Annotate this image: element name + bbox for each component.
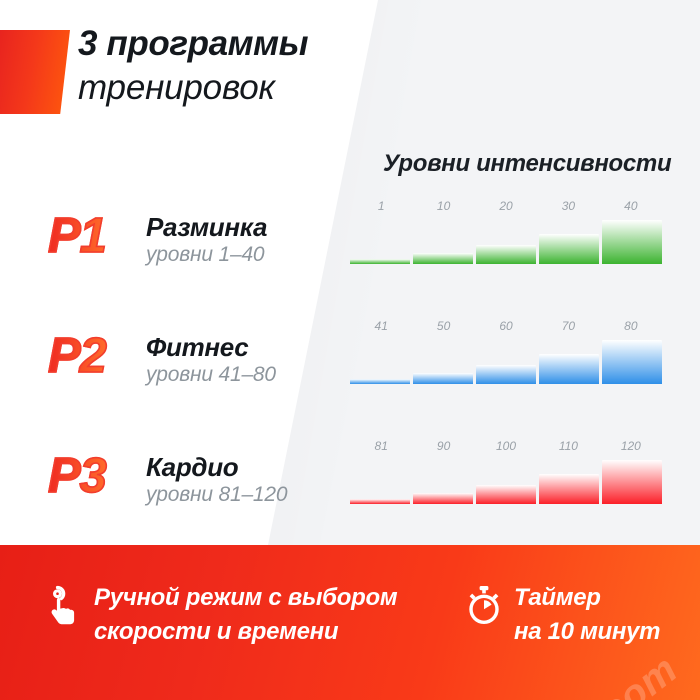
bar-group-2: 4150607080: [350, 318, 662, 406]
bar-row: [350, 334, 662, 384]
bar: [413, 253, 473, 264]
feature-line-1: Ручной режим с выбором: [94, 581, 397, 615]
title-line-1: 3 программы: [78, 22, 378, 66]
bar-row: [350, 454, 662, 504]
bar: [602, 340, 662, 384]
bar-group-1: 110203040: [350, 198, 662, 286]
bar-group-3: 8190100110120: [350, 438, 662, 526]
program-code: P1: [48, 208, 106, 264]
watermark-sub: СОЗДАЙ СВОЮ ЗОНУ СПОРТА: [431, 681, 694, 700]
feature-text: Таймерна 10 минут: [514, 581, 660, 649]
stopwatch-icon: [466, 585, 502, 625]
red-flag-shape: [0, 30, 70, 114]
bar: [602, 220, 662, 264]
program-item-p3: P3Кардиоуровни 81–120: [48, 452, 308, 532]
bar: [476, 245, 536, 264]
program-code: P3: [48, 448, 106, 504]
tap-hand-icon: [48, 585, 82, 625]
stopwatch-icon: [466, 585, 502, 630]
bar: [476, 365, 536, 384]
feature-text: Ручной режим с выборомскорости и времени: [94, 581, 397, 649]
feature-line-2: на 10 минут: [514, 615, 660, 649]
watermark: ZonaSporta.com СОЗДАЙ СВОЮ ЗОНУ СПОРТА: [405, 648, 694, 700]
program-levels: уровни 1–40: [146, 242, 267, 268]
program-text: Кардиоуровни 81–120: [146, 452, 287, 508]
program-text: Фитнесуровни 41–80: [146, 332, 276, 388]
bar: [476, 485, 536, 504]
bar: [539, 354, 599, 384]
bar: [539, 474, 599, 504]
infographic-root: 3 программы тренировок P1Разминкауровни …: [0, 0, 700, 700]
page-title: 3 программы тренировок: [78, 22, 378, 110]
bar: [602, 460, 662, 504]
program-name: Кардио: [146, 452, 287, 482]
program-code: P2: [48, 328, 106, 384]
program-levels: уровни 81–120: [146, 482, 287, 508]
feature-item-1: Ручной режим с выборомскорости и времени: [48, 581, 397, 649]
title-line-2: тренировок: [78, 66, 378, 110]
watermark-main: ZonaSporta.com: [405, 648, 685, 700]
bar-row: [350, 214, 662, 264]
program-item-p1: P1Разминкауровни 1–40: [48, 212, 308, 292]
bar: [413, 373, 473, 384]
feature-line-1: Таймер: [514, 581, 660, 615]
program-name: Разминка: [146, 212, 267, 242]
program-item-p2: P2Фитнесуровни 41–80: [48, 332, 308, 412]
program-text: Разминкауровни 1–40: [146, 212, 267, 268]
tap-hand-icon: [48, 585, 82, 630]
bar: [350, 379, 410, 384]
bar: [350, 499, 410, 504]
bar: [539, 234, 599, 264]
feature-item-2: Таймерна 10 минут: [466, 581, 660, 649]
bottom-banner: Ручной режим с выборомскорости и времени…: [0, 545, 700, 700]
feature-line-2: скорости и времени: [94, 615, 397, 649]
bar: [350, 259, 410, 264]
chart-title: Уровни интенсивности: [383, 150, 671, 178]
program-levels: уровни 41–80: [146, 362, 276, 388]
program-name: Фитнес: [146, 332, 276, 362]
bar: [413, 493, 473, 504]
